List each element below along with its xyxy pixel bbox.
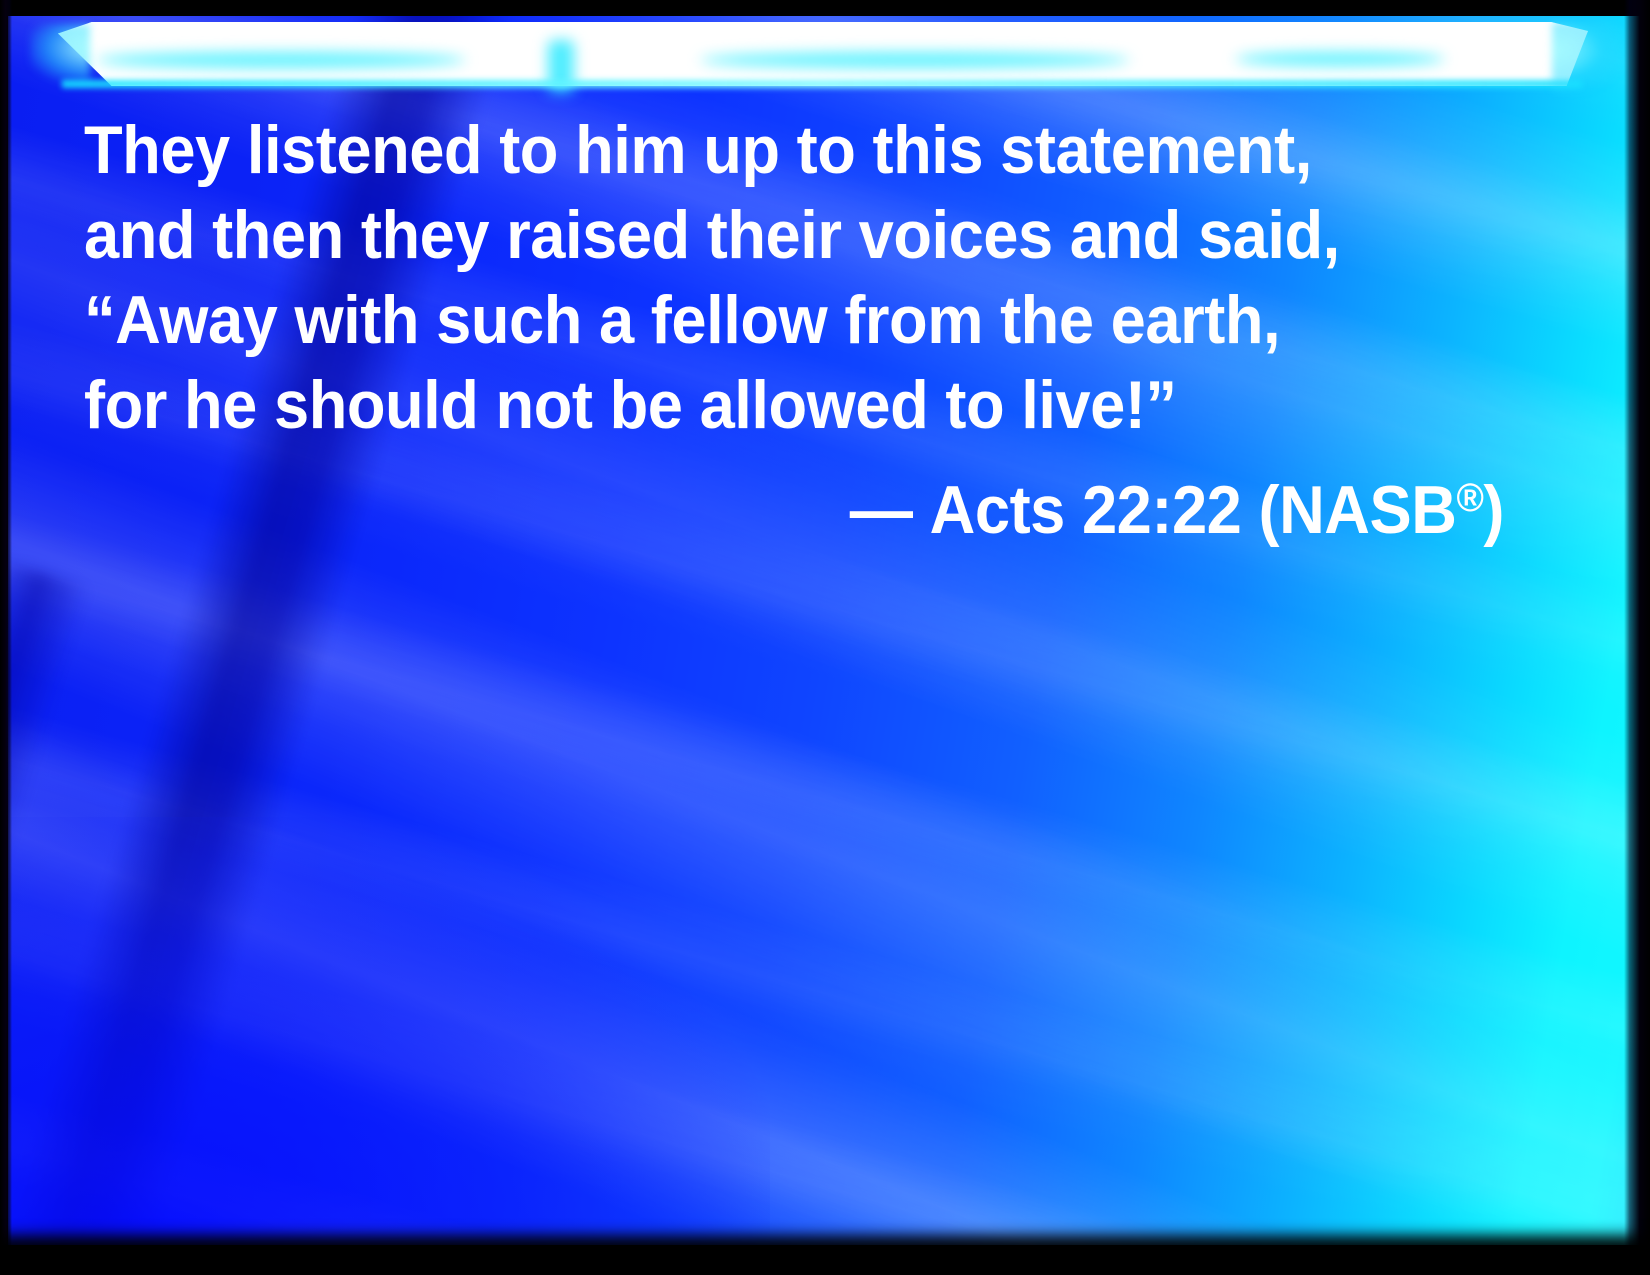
attribution-em-dash: — <box>850 472 913 548</box>
glow-wisp-3 <box>1235 52 1445 66</box>
background-blue-pool <box>10 817 770 1247</box>
glow-cap-left-icon <box>30 24 90 84</box>
glow-underline <box>62 80 1582 88</box>
verse-slide: They listened to him up to this statemen… <box>0 0 1650 1275</box>
frame-bottom-border <box>0 1245 1650 1275</box>
verse-attribution: — Acts 22:22 (NASB®) <box>183 448 1504 553</box>
glow-wisp-2 <box>700 52 1130 68</box>
verse-line-1: They listened to him up to this statemen… <box>84 108 1405 193</box>
verse-text-block: They listened to him up to this statemen… <box>84 108 1504 553</box>
verse-line-3: “Away with such a fellow from the earth, <box>84 278 1405 363</box>
glow-wisp-1 <box>96 52 466 68</box>
verse-line-4: for he should not be allowed to live!” <box>84 363 1405 448</box>
attribution-translation-open: (NASB <box>1259 472 1457 548</box>
attribution-translation-close: ) <box>1483 472 1504 548</box>
registered-trademark-icon: ® <box>1456 476 1483 520</box>
verse-line-2: and then they raised their voices and sa… <box>84 193 1405 278</box>
attribution-reference: Acts 22:22 <box>930 472 1242 548</box>
glow-cap-right-icon <box>1552 22 1622 92</box>
